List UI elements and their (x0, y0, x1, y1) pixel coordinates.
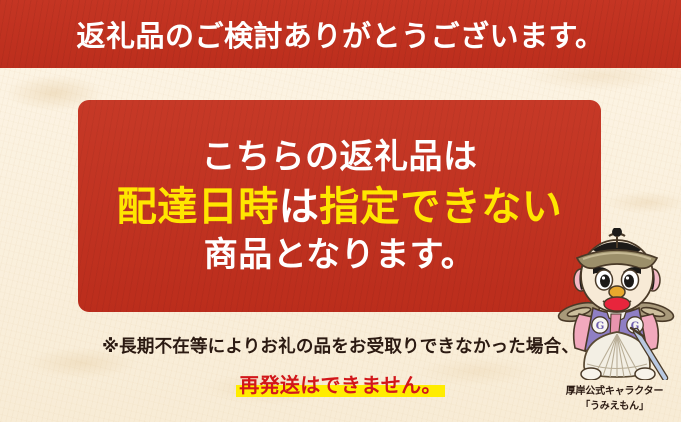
notice-line-1: こちらの返礼品は (202, 136, 478, 180)
notice-line-3: 商品となります。 (204, 234, 476, 278)
mascot-caption-line-2: 「うみえもん」 (548, 400, 681, 415)
header-title: 返礼品のご検討ありがとうございます。 (76, 13, 604, 55)
notice-line-2-segment-2: は (279, 184, 320, 230)
notice-panel-content: こちらの返礼品は 配達日時は指定できない 商品となります。 (78, 100, 601, 312)
g-badge-left: G (592, 317, 608, 333)
header-bar: 返礼品のご検討ありがとうございます。 (0, 0, 681, 68)
mascot-umiemon-illustration: G G (553, 228, 681, 380)
mascot-caption: 厚岸公式キャラクター 「うみえもん」 (548, 385, 681, 414)
promotional-banner: 返礼品のご検討ありがとうございます。 こちらの返礼品は 配達日時は指定できない … (0, 0, 681, 422)
notice-line-2-segment-3: 指定できない (319, 184, 562, 230)
notice-panel: こちらの返礼品は 配達日時は指定できない 商品となります。 (78, 100, 601, 312)
svg-text:G: G (596, 321, 605, 332)
footnote-line-2: 再発送はできません。 (236, 369, 444, 398)
notice-line-2-segment-1: 配達日時 (117, 184, 279, 230)
notice-line-2: 配達日時は指定できない (117, 182, 563, 232)
mascot-caption-line-1: 厚岸公式キャラクター (548, 385, 681, 400)
footnote-line-2-text: 再発送はできません。 (239, 373, 441, 397)
